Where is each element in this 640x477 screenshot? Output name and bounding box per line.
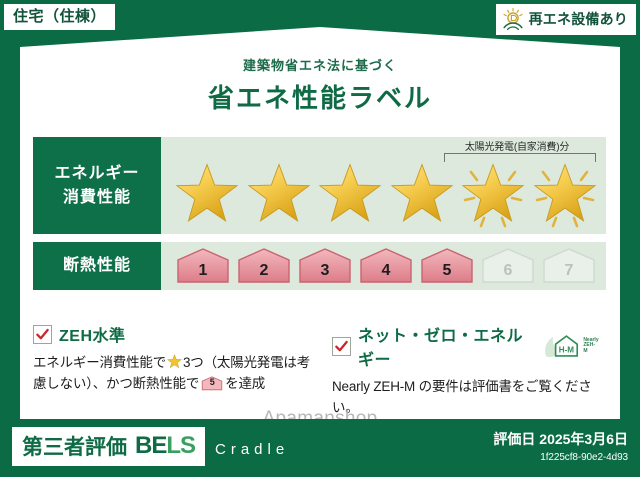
zeh-m-caption-line2: ZEH-M: [583, 342, 595, 354]
checkbox-zeh: [33, 325, 52, 344]
star-5-solar: [457, 156, 529, 230]
energy-performance-label-box: エネルギー 消費性能: [33, 137, 161, 234]
dwelling-type-label: 住宅（住棟）: [13, 8, 106, 25]
bels-en-part-b: LS: [166, 432, 195, 459]
star-icon: [461, 162, 525, 226]
bels-en-label: BELS: [135, 432, 195, 460]
bels-jp-label: 第三者評価: [22, 431, 127, 461]
star-icon: [390, 162, 454, 226]
grade-value: 1: [199, 262, 208, 285]
insulation-grade-list: 1 2 3: [175, 247, 598, 285]
renewable-equipment-label: 再エネ設備あり: [529, 9, 628, 29]
check-icon: [334, 339, 349, 354]
page-title: 建築物省エネ法に基づく 省エネ性能ラベル: [0, 55, 640, 115]
title-subtitle: 建築物省エネ法に基づく: [0, 55, 640, 74]
insulation-grade-5: 5: [419, 247, 475, 285]
note-nze-header: ネット・ゼロ・エネルギー H-M Nearly ZEH-M: [332, 322, 599, 370]
footer-bar: 第三者評価 BELS Cradle 評価日 2025年3月6日 1f225cf8…: [0, 419, 640, 477]
grade-value: 5: [443, 262, 452, 285]
grade-value: 6: [504, 262, 513, 285]
bels-en-part-a: BE: [135, 432, 166, 459]
insulation-grade-3: 3: [297, 247, 353, 285]
brand-name: Cradle: [215, 441, 289, 458]
note-zeh-text1: エネルギー消費性能で: [33, 355, 166, 370]
grade-value: 4: [382, 262, 391, 285]
insulation-grade-6: 6: [480, 247, 536, 285]
renewable-equipment-tag: 再エネ設備あり: [496, 4, 636, 35]
star-icon: [533, 162, 597, 226]
bels-logo: 第三者評価 BELS: [12, 427, 205, 466]
star-icon: [318, 162, 382, 226]
zeh-m-house-icon: H-M: [543, 333, 583, 359]
inline-grade-badge: 5: [201, 376, 223, 391]
performance-rows: エネルギー 消費性能 太陽光発電(自家消費)分: [33, 137, 606, 290]
note-zeh-body: エネルギー消費性能で3つ（太陽光発電は考慮しない）、かつ断熱性能で5を達成: [33, 353, 310, 395]
note-zeh-text3: を達成: [225, 376, 265, 391]
note-net-zero-energy: ネット・ゼロ・エネルギー H-M Nearly ZEH-M Nearly ZEH…: [322, 322, 611, 419]
insulation-performance-label-box: 断熱性能: [33, 242, 161, 290]
energy-label-line1: エネルギー: [54, 162, 139, 185]
insulation-grade-7: 7: [541, 247, 597, 285]
grade-value: 7: [565, 262, 574, 285]
note-zeh-standard: ZEH水準 エネルギー消費性能で3つ（太陽光発電は考慮しない）、かつ断熱性能で5…: [33, 322, 322, 419]
note-zeh-title: ZEH水準: [59, 322, 126, 346]
grade-value: 3: [321, 262, 330, 285]
checkbox-nze: [332, 337, 351, 356]
note-nze-title: ネット・ゼロ・エネルギー: [358, 322, 532, 370]
check-icon: [35, 327, 50, 342]
energy-performance-label: 住宅（住棟） 再エネ設備あり 建築物省エネ法に基づく 省エネ性能ラベル: [0, 0, 640, 477]
star-rating: [171, 156, 600, 230]
evaluation-info: 評価日 2025年3月6日 1f225cf8-90e2-4d93: [493, 429, 628, 463]
dwelling-type-tag: 住宅（住棟）: [4, 4, 115, 30]
title-main: 省エネ性能ラベル: [0, 78, 640, 115]
note-zeh-header: ZEH水準: [33, 322, 310, 346]
insulation-grade-1: 1: [175, 247, 231, 285]
insulation-grade-2: 2: [236, 247, 292, 285]
star-1: [171, 156, 243, 230]
evaluation-id: 1f225cf8-90e2-4d93: [493, 452, 628, 463]
star-3: [314, 156, 386, 230]
zeh-m-caption: Nearly ZEH-M: [583, 338, 599, 355]
insulation-grade-4: 4: [358, 247, 414, 285]
evaluation-date: 評価日 2025年3月6日: [493, 429, 628, 449]
zeh-m-logo: H-M Nearly ZEH-M: [539, 333, 599, 359]
notes-section: ZEH水準 エネルギー消費性能で3つ（太陽光発電は考慮しない）、かつ断熱性能で5…: [33, 322, 611, 419]
energy-label-line2: 消費性能: [63, 186, 131, 209]
energy-performance-row: エネルギー 消費性能 太陽光発電(自家消費)分: [33, 137, 606, 234]
grade-value: 2: [260, 262, 269, 285]
insulation-label-line1: 断熱性能: [63, 254, 131, 277]
star-4: [386, 156, 458, 230]
star-6-solar: [529, 156, 601, 230]
zeh-m-logo-text: H-M: [558, 345, 574, 354]
inline-grade-value: 5: [201, 376, 223, 391]
star-icon: [175, 162, 239, 226]
star-icon: [247, 162, 311, 226]
energy-star-panel: 太陽光発電(自家消費)分: [161, 137, 606, 234]
insulation-grade-panel: 1 2 3: [161, 242, 606, 290]
inline-star-icon: [167, 354, 182, 369]
sun-solar-icon: [501, 7, 525, 31]
insulation-performance-row: 断熱性能 1: [33, 242, 606, 290]
star-2: [243, 156, 315, 230]
solar-caption: 太陽光発電(自家消費)分: [432, 138, 602, 153]
